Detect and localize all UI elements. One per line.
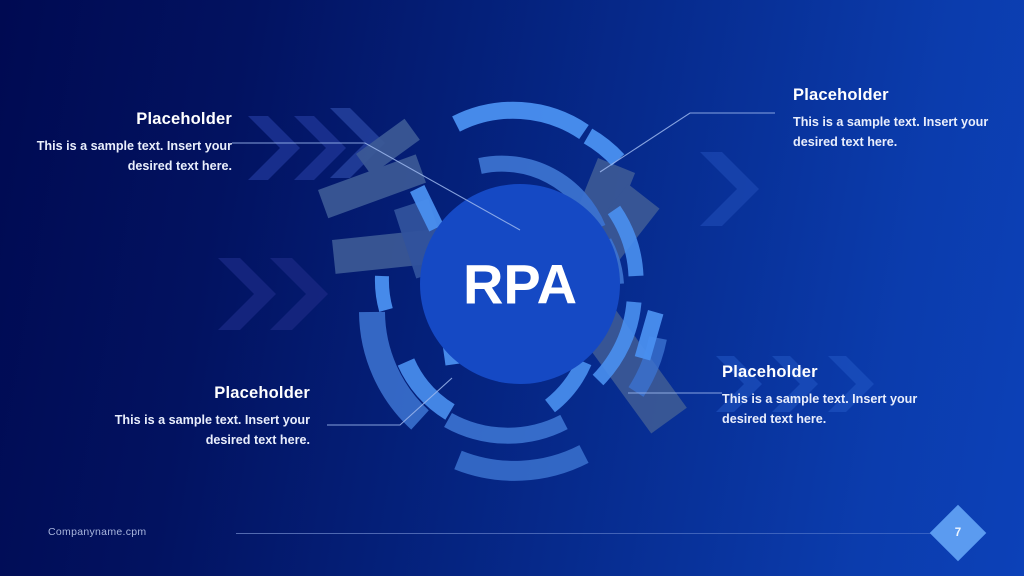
callout-top-right: Placeholder This is a sample text. Inser…: [793, 86, 1024, 152]
footer-divider: [236, 533, 936, 534]
core-label: RPA: [463, 253, 577, 316]
callout-body: This is a sample text. Insert your desir…: [78, 411, 310, 450]
callout-bottom-left: Placeholder This is a sample text. Inser…: [78, 384, 310, 450]
callout-title: Placeholder: [722, 363, 954, 381]
callout-bottom-right: Placeholder This is a sample text. Inser…: [722, 363, 954, 429]
slide-canvas: RPA Placeholder This is a sample text. I…: [0, 0, 1024, 576]
page-number-badge: 7: [929, 504, 987, 562]
callout-body: This is a sample text. Insert your desir…: [793, 113, 1024, 152]
rpa-ring-diagram: RPA: [298, 62, 742, 506]
callout-title: Placeholder: [0, 110, 232, 128]
callout-top-left: Placeholder This is a sample text. Inser…: [0, 110, 232, 176]
callout-title: Placeholder: [793, 86, 1024, 104]
callout-body: This is a sample text. Insert your desir…: [0, 137, 232, 176]
page-number: 7: [929, 504, 987, 562]
callout-body: This is a sample text. Insert your desir…: [722, 390, 954, 429]
footer-company-name: Companyname.cpm: [48, 526, 146, 538]
callout-title: Placeholder: [78, 384, 310, 402]
